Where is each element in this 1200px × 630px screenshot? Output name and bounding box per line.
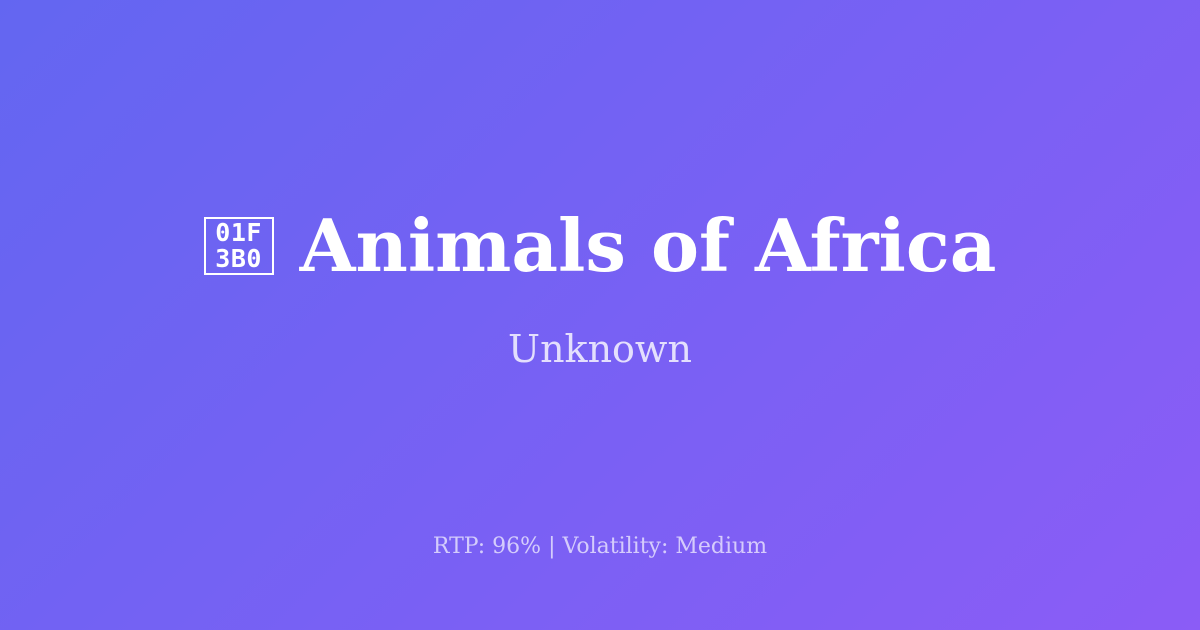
title-row: 01F 3B0 Animals of Africa [204,210,997,282]
slot-machine-emoji-missing-glyph-icon: 01F 3B0 [204,217,274,275]
page-title: Animals of Africa [300,210,997,282]
glyph-hex-bottom: 3B0 [215,246,262,272]
provider-subtitle: Unknown [508,330,692,368]
glyph-hex-top: 01F [215,220,262,246]
og-card: 01F 3B0 Animals of Africa Unknown RTP: 9… [0,0,1200,630]
game-stats-meta: RTP: 96% | Volatility: Medium [0,536,1200,558]
